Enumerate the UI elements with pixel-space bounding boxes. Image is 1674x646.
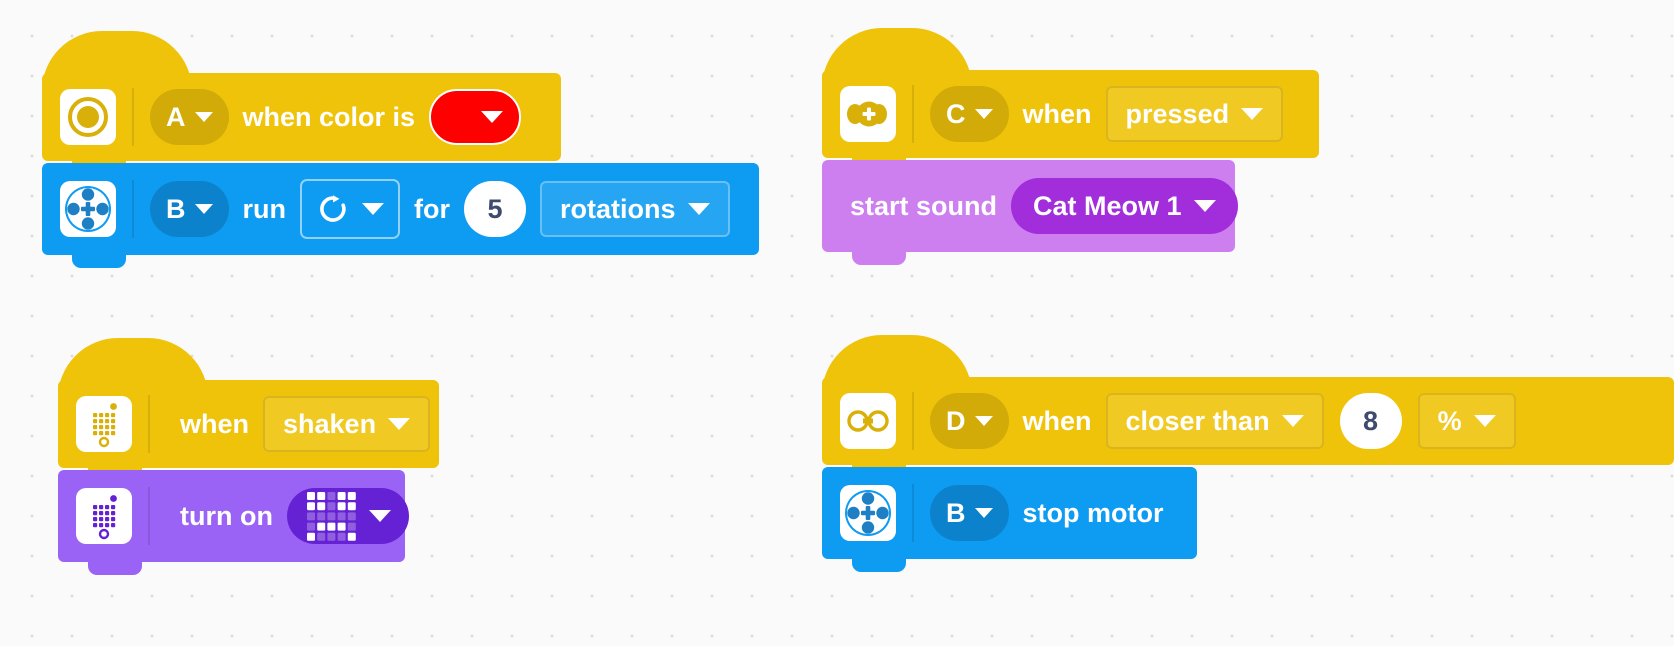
port-select[interactable]: D — [930, 393, 1009, 449]
script-stack-distance-stop[interactable]: D when closer than 8 % — [822, 377, 1674, 559]
sound-value: Cat Meow 1 — [1033, 191, 1182, 222]
led-matrix-icon — [305, 490, 357, 542]
motor-icon — [840, 485, 896, 541]
port-select[interactable]: C — [930, 86, 1009, 142]
press-state-value: pressed — [1126, 99, 1230, 130]
port-value: B — [946, 498, 966, 529]
led-matrix-select[interactable] — [287, 488, 409, 544]
chevron-down-icon — [369, 510, 391, 522]
block-when-closer-than[interactable]: D when closer than 8 % — [822, 377, 1674, 465]
icon-divider — [148, 395, 150, 453]
block-when-color-is[interactable]: A when color is — [42, 73, 561, 161]
sound-select[interactable]: Cat Meow 1 — [1011, 178, 1238, 234]
icon-divider — [132, 180, 134, 238]
chevron-down-icon — [1474, 415, 1496, 427]
block-stop-motor[interactable]: B stop motor — [822, 467, 1197, 559]
port-value: B — [166, 194, 186, 225]
icon-divider — [912, 484, 914, 542]
for-label: for — [400, 194, 464, 225]
motor-icon — [60, 181, 116, 237]
chevron-down-icon — [388, 418, 410, 430]
amount-input[interactable]: 5 — [464, 181, 526, 237]
port-value: C — [946, 99, 966, 130]
port-select[interactable]: A — [150, 89, 229, 145]
comparison-select[interactable]: closer than — [1106, 393, 1324, 449]
chevron-down-icon — [481, 111, 503, 123]
turn-on-label: turn on — [166, 501, 287, 532]
script-stack-shaken-light[interactable]: when shaken — [58, 380, 439, 562]
block-coding-canvas: A when color is — [0, 0, 1674, 646]
chevron-down-icon — [195, 112, 213, 122]
gesture-select[interactable]: shaken — [263, 396, 430, 452]
color-sensor-icon — [60, 89, 116, 145]
hub-icon — [76, 488, 132, 544]
unit-value: rotations — [560, 194, 676, 225]
port-value: A — [166, 102, 186, 133]
distance-sensor-icon — [840, 393, 896, 449]
chevron-down-icon — [1194, 200, 1216, 212]
chevron-down-icon — [362, 203, 384, 215]
color-swatch[interactable] — [429, 89, 521, 145]
chevron-down-icon — [195, 204, 213, 214]
run-label: run — [229, 194, 301, 225]
chevron-down-icon — [975, 109, 993, 119]
comparison-value: closer than — [1126, 406, 1270, 437]
when-label: when — [166, 409, 263, 440]
block-when-pressed[interactable]: C when pressed — [822, 70, 1319, 158]
icon-divider — [148, 487, 150, 545]
hub-icon — [76, 396, 132, 452]
chevron-down-icon — [1241, 108, 1263, 120]
unit-select[interactable]: % — [1418, 393, 1516, 449]
icon-divider — [912, 392, 914, 450]
direction-select[interactable] — [300, 179, 400, 239]
unit-value: % — [1438, 406, 1462, 437]
press-state-select[interactable]: pressed — [1106, 86, 1284, 142]
block-when-shaken[interactable]: when shaken — [58, 380, 439, 468]
script-stack-force-sound[interactable]: C when pressed start sound Cat Meow 1 — [822, 70, 1319, 252]
icon-divider — [912, 85, 914, 143]
gesture-value: shaken — [283, 409, 376, 440]
chevron-down-icon — [975, 416, 993, 426]
when-label: when — [1009, 406, 1106, 437]
start-sound-label: start sound — [836, 191, 1011, 222]
block-turn-on-matrix[interactable]: turn on — [58, 470, 405, 562]
chevron-down-icon — [975, 508, 993, 518]
port-value: D — [946, 406, 966, 437]
when-color-is-label: when color is — [229, 102, 430, 133]
stop-motor-label: stop motor — [1009, 498, 1178, 529]
port-select[interactable]: B — [930, 485, 1009, 541]
port-select[interactable]: B — [150, 181, 229, 237]
icon-divider — [132, 88, 134, 146]
force-sensor-icon — [840, 86, 896, 142]
clockwise-icon — [316, 192, 350, 226]
block-run-for-rotations[interactable]: B run for 5 rotations — [42, 163, 759, 255]
chevron-down-icon — [1282, 415, 1304, 427]
block-start-sound[interactable]: start sound Cat Meow 1 — [822, 160, 1235, 252]
script-stack-color-run[interactable]: A when color is — [42, 73, 759, 255]
chevron-down-icon — [688, 203, 710, 215]
unit-select[interactable]: rotations — [540, 181, 730, 237]
when-label: when — [1009, 99, 1106, 130]
distance-input[interactable]: 8 — [1340, 393, 1402, 449]
